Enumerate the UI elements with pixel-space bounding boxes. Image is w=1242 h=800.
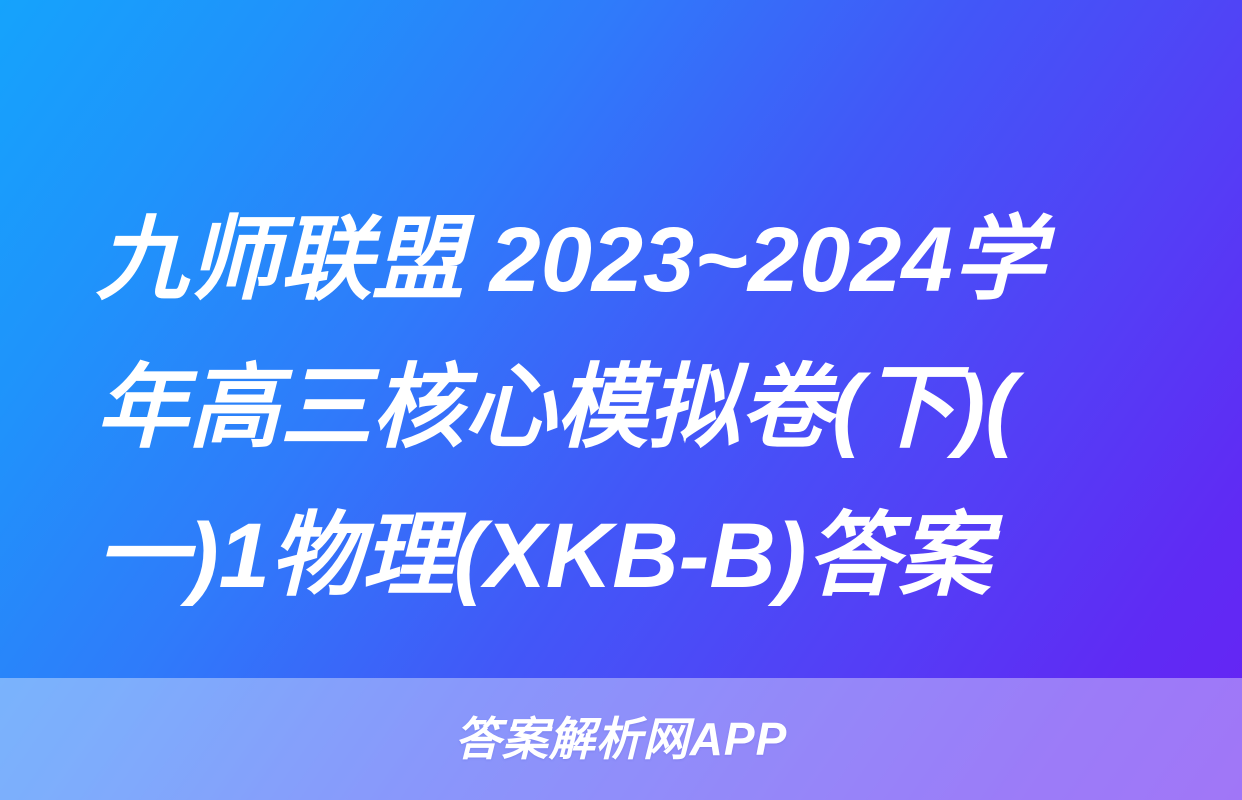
headline-line-3: 一)1物理(XKB-B)答案 bbox=[96, 482, 1168, 630]
footer-band: 答案解析网APP bbox=[0, 678, 1242, 800]
headline-line-1: 九师联盟 2023~2024学 bbox=[96, 186, 1168, 334]
app-watermark: 答案解析网APP bbox=[455, 714, 788, 764]
headline-block: 九师联盟 2023~2024学 年高三核心模拟卷(下)( 一)1物理(XKB-B… bbox=[96, 186, 1168, 630]
promo-card: 九师联盟 2023~2024学 年高三核心模拟卷(下)( 一)1物理(XKB-B… bbox=[0, 0, 1242, 800]
headline-line-2: 年高三核心模拟卷(下)( bbox=[96, 334, 1168, 482]
